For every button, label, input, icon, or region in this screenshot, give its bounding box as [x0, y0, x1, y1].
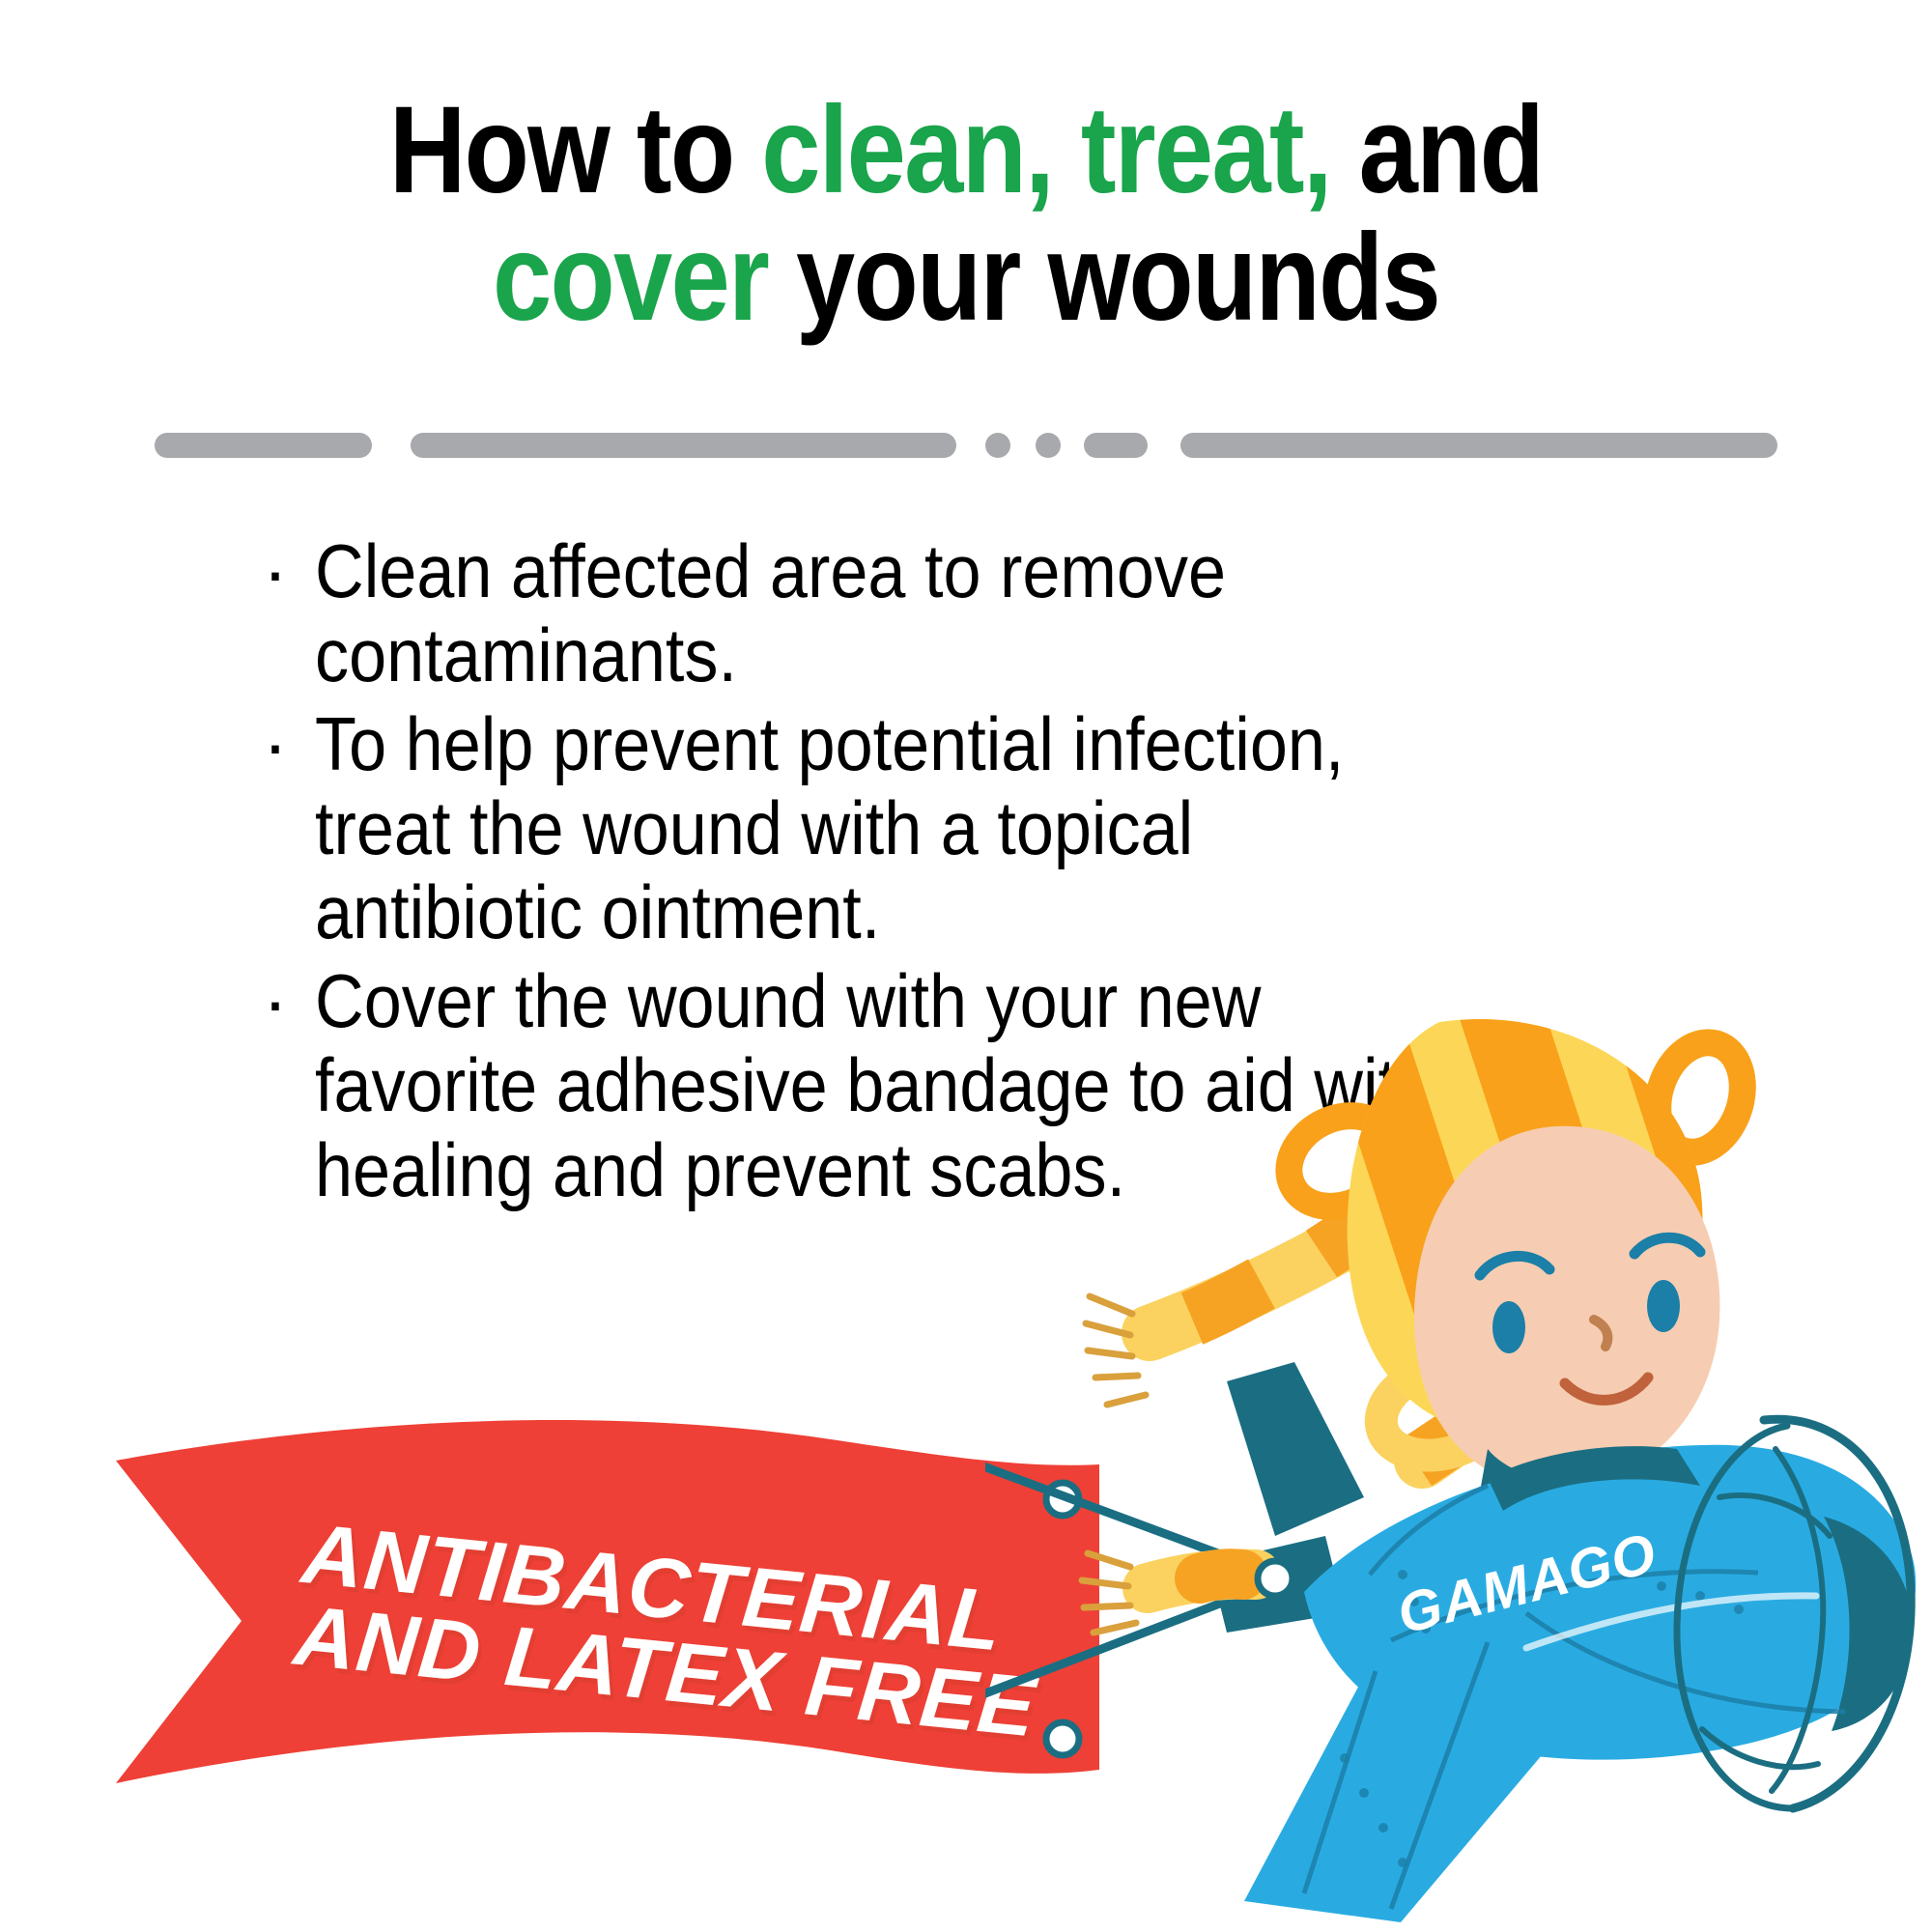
dashed-divider — [0, 433, 1932, 458]
page-title: How to clean, treat, and cover your woun… — [135, 87, 1797, 342]
bullet-dot-icon: · — [263, 702, 288, 786]
tow-hook-ring — [1258, 1561, 1293, 1596]
monkey-face — [1414, 1126, 1719, 1488]
divider-dot-1 — [985, 433, 1010, 458]
page-title-green-treat: treat, — [1081, 81, 1331, 219]
bullet-dot-icon: · — [263, 959, 288, 1043]
divider-dot-2 — [1036, 433, 1061, 458]
plane-wing-front — [1244, 1613, 1662, 1922]
divider-dash-1 — [155, 433, 372, 458]
eye-right — [1647, 1280, 1680, 1332]
page-title-text-2: and — [1331, 81, 1543, 219]
airplane-illustration — [985, 995, 1932, 1932]
list-item: · To help prevent potential infection, t… — [259, 702, 1766, 955]
divider-dash-4 — [1180, 433, 1777, 458]
list-item-text: To help prevent potential infection, tre… — [315, 702, 1764, 955]
plane-tail-fin — [1227, 1362, 1364, 1536]
poster-root: How to clean, treat, and cover your woun… — [0, 0, 1932, 1932]
page-title-line-1: How to clean, treat, and — [135, 87, 1797, 214]
page-title-green-clean: clean, — [761, 81, 1053, 219]
eye-left — [1492, 1301, 1525, 1353]
page-title-green-cover: cover — [493, 209, 768, 347]
page-title-text-3: your wounds — [768, 209, 1439, 347]
page-title-space-1 — [1053, 81, 1081, 219]
divider-dash-2 — [411, 433, 956, 458]
list-item: · Clean affected area to remove contamin… — [259, 529, 1766, 698]
divider-dash-3 — [1084, 433, 1148, 458]
list-item-text: Clean affected area to remove contaminan… — [315, 529, 1764, 698]
bullet-dot-icon: · — [263, 529, 288, 613]
page-title-text-1: How to — [389, 81, 761, 219]
page-title-line-2: cover your wounds — [135, 214, 1797, 342]
